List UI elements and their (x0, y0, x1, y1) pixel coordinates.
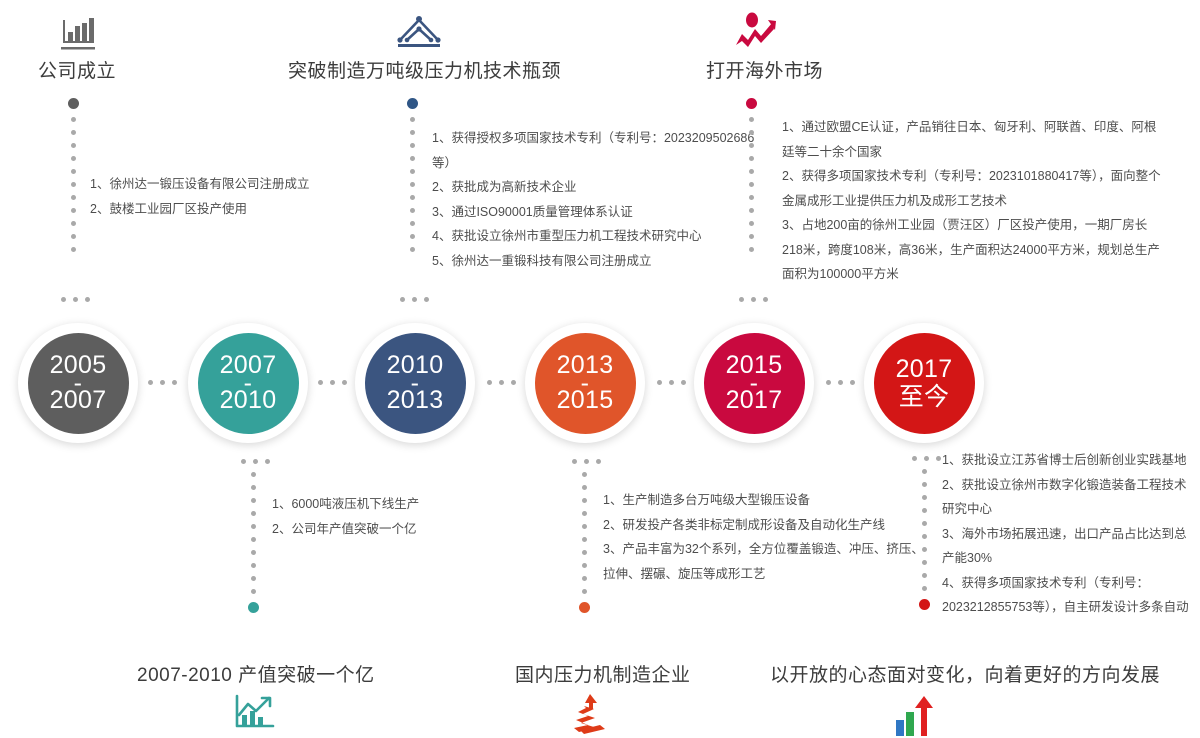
branch-title-top-1: 公司成立 (38, 56, 116, 83)
connector-bottom-3 (919, 469, 930, 634)
timeline-node-inner: 2010 - 2013 (365, 333, 466, 434)
note-item: 2、获批成为高新技术企业 (432, 175, 762, 200)
timeline-node-year-end: 2013 (387, 387, 444, 414)
note-item: 研究中心 (942, 497, 1200, 522)
note-item: 1、6000吨液压机下线生产 (272, 492, 572, 517)
network-arch-icon (392, 8, 446, 52)
note-item: 3、产品丰富为32个系列，全方位覆盖锻造、冲压、挤压、 (603, 537, 943, 562)
timeline-node-2010-2013[interactable]: 2010 - 2013 (355, 323, 475, 443)
timeline-node-year-end: 至今 (899, 383, 950, 411)
connector-tridots-top-1 (61, 297, 90, 302)
timeline-node-year-start: 2017 (896, 356, 953, 383)
note-item: 3、通过ISO90001质量管理体系认证 (432, 200, 762, 225)
bar-arrow-up-icon (885, 694, 939, 738)
note-list-top-3: 1、通过欧盟CE认证，产品销往日本、匈牙利、阿联酋、印度、阿根 廷等二十余个国家… (782, 115, 1182, 287)
connector-bottom-1 (248, 472, 259, 637)
note-item: 3、占地200亩的徐州工业园（贾汪区）厂区投产使用，一期厂房长 (782, 213, 1182, 238)
note-item: 廷等二十余个国家 (782, 140, 1182, 165)
connector-bottom-2 (579, 472, 590, 637)
node-connector-3-4 (487, 380, 516, 385)
note-item: 1、获得授权多项国家技术专利（专利号：2023209502686 (432, 126, 762, 151)
timeline-node-year-end: 2007 (50, 387, 107, 414)
timeline-node-2015-2017[interactable]: 2015 - 2017 (694, 323, 814, 443)
note-item: 2、获批设立徐州市数字化锻造装备工程技术 (942, 473, 1200, 498)
branch-caption-bottom-3: 以开放的心态面对变化，向着更好的方向发展 (770, 660, 1160, 687)
note-item: 拉伸、摆碾、旋压等成形工艺 (603, 562, 943, 587)
branch-title-top-2: 突破制造万吨级压力机技术瓶颈 (288, 56, 561, 83)
growth-chart-icon (228, 690, 282, 734)
note-item: 2、研发投产各类非标定制成形设备及自动化生产线 (603, 513, 943, 538)
branch-caption-bottom-2: 国内压力机制造企业 (515, 660, 691, 687)
timeline-node-year-end: 2010 (220, 387, 277, 414)
note-item: 1、获批设立江苏省博士后创新创业实践基地 (942, 448, 1200, 473)
note-item: 等） (432, 151, 762, 176)
timeline-node-2017-present[interactable]: 2017 至今 (864, 323, 984, 443)
note-list-bottom-3: 1、获批设立江苏省博士后创新创业实践基地 2、获批设立徐州市数字化锻造装备工程技… (942, 448, 1200, 620)
note-list-top-1: 1、徐州达一锻压设备有限公司注册成立 2、鼓楼工业园厂区投产使用 (90, 172, 390, 221)
note-item: 1、生产制造多台万吨级大型锻压设备 (603, 488, 943, 513)
note-item: 1、通过欧盟CE认证，产品销往日本、匈牙利、阿联酋、印度、阿根 (782, 115, 1182, 140)
connector-tridots-top-3 (739, 297, 768, 302)
note-list-bottom-2: 1、生产制造多台万吨级大型锻压设备 2、研发投产各类非标定制成形设备及自动化生产… (603, 488, 943, 586)
timeline-node-inner: 2005 - 2007 (28, 333, 129, 434)
connector-tridots-bottom-1 (241, 459, 270, 464)
connector-cap-dot (746, 98, 757, 109)
timeline-node-inner: 2017 至今 (874, 333, 975, 434)
connector-top-1 (68, 98, 79, 303)
connector-cap-dot (579, 602, 590, 613)
connector-top-2 (407, 98, 418, 303)
node-connector-1-2 (148, 380, 177, 385)
note-item: 金属成形工业提供压力机及成形工艺技术 (782, 189, 1182, 214)
branch-title-top-3: 打开海外市场 (706, 56, 823, 83)
bar-chart-icon (54, 10, 108, 54)
note-item: 2、公司年产值突破一个亿 (272, 517, 572, 542)
note-item: 4、获批设立徐州市重型压力机工程技术研究中心 (432, 224, 762, 249)
connector-top-3 (746, 98, 757, 303)
connector-cap-dot (919, 599, 930, 610)
runner-growth-icon (727, 10, 781, 54)
connector-tridots-bottom-3 (912, 456, 941, 461)
note-item: 面积为100000平方米 (782, 262, 1182, 287)
branch-caption-bottom-1: 2007-2010 产值突破一个亿 (137, 660, 375, 687)
note-item: 5、徐州达一重锻科技有限公司注册成立 (432, 249, 762, 274)
timeline-node-inner: 2007 - 2010 (198, 333, 299, 434)
note-item: 4、获得多项国家技术专利（专利号： (942, 571, 1200, 596)
note-item: 3、海外市场拓展迅速，出口产品占比达到总 (942, 522, 1200, 547)
note-list-top-2: 1、获得授权多项国家技术专利（专利号：2023209502686 等） 2、获批… (432, 126, 762, 273)
timeline-node-year-end: 2017 (726, 387, 783, 414)
node-connector-4-5 (657, 380, 686, 385)
timeline-node-2013-2015[interactable]: 2013 - 2015 (525, 323, 645, 443)
connector-tridots-top-2 (400, 297, 429, 302)
note-item: 218米，跨度108米，高36米，生产面积达24000平方米，规划总生产 (782, 238, 1182, 263)
timeline-node-inner: 2013 - 2015 (535, 333, 636, 434)
note-item: 2023212855753等），自主研发设计多条自动 (942, 595, 1200, 620)
note-item: 2、获得多项国家技术专利（专利号：2023101880417等），面向整个 (782, 164, 1182, 189)
note-item: 1、徐州达一锻压设备有限公司注册成立 (90, 172, 390, 197)
timeline-node-2005-2007[interactable]: 2005 - 2007 (18, 323, 138, 443)
connector-tridots-bottom-2 (572, 459, 601, 464)
connector-cap-dot (248, 602, 259, 613)
note-item: 产能30% (942, 546, 1200, 571)
connector-cap-dot (407, 98, 418, 109)
connector-cap-dot (68, 98, 79, 109)
zigzag-rise-icon (565, 692, 619, 736)
note-list-bottom-1: 1、6000吨液压机下线生产 2、公司年产值突破一个亿 (272, 492, 572, 541)
node-connector-5-6 (826, 380, 855, 385)
timeline-node-2007-2010[interactable]: 2007 - 2010 (188, 323, 308, 443)
note-item: 2、鼓楼工业园厂区投产使用 (90, 197, 390, 222)
node-connector-2-3 (318, 380, 347, 385)
timeline-node-inner: 2015 - 2017 (704, 333, 805, 434)
timeline-node-year-end: 2015 (557, 387, 614, 414)
